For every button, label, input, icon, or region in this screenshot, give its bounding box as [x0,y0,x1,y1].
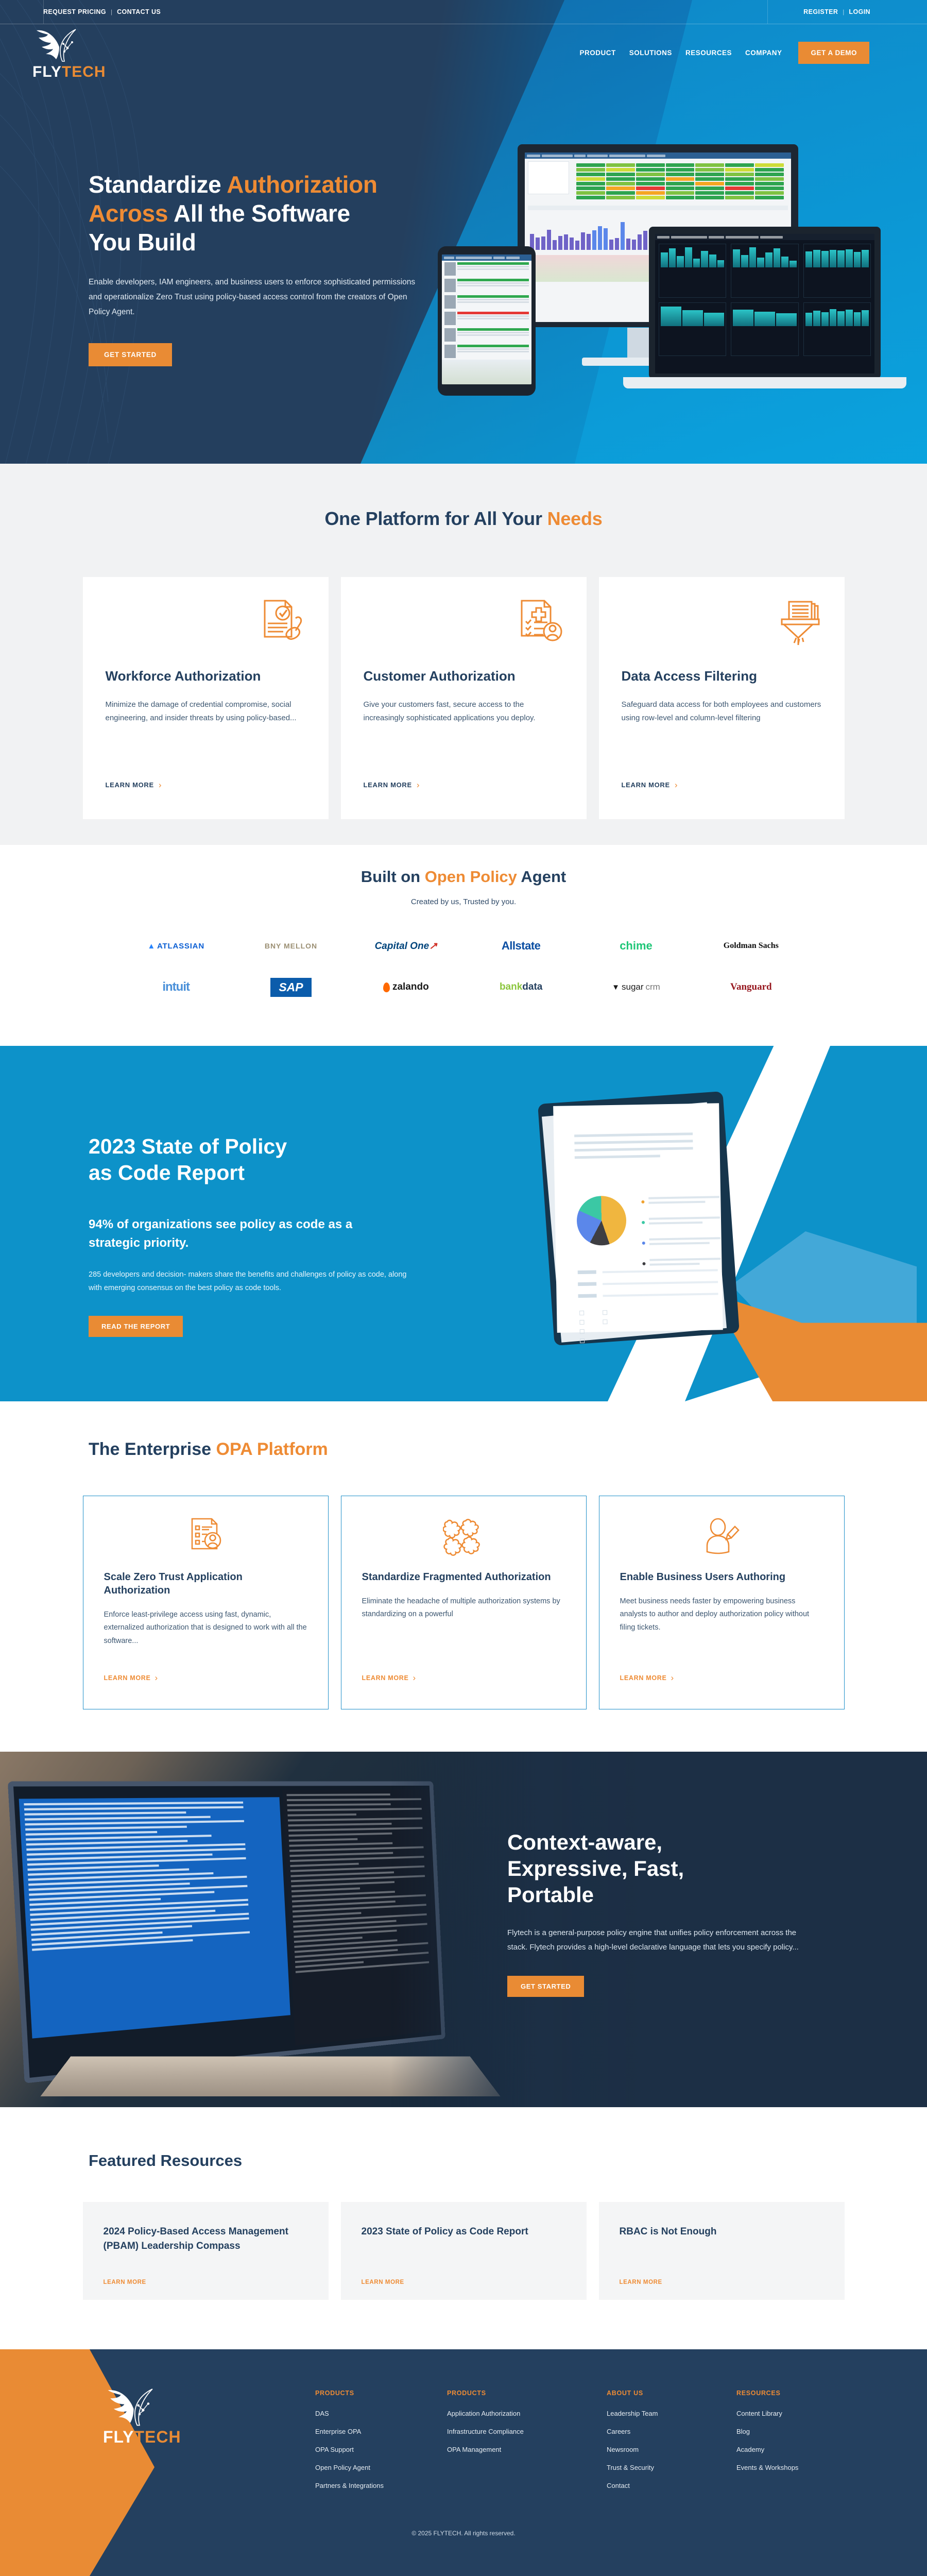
footer-copyright: © 2025 FLYTECH. All rights reserved. [0,2530,927,2537]
hero-title-part2: All the Software [168,200,350,227]
laptop-mockup [649,227,881,379]
utility-divider-left [43,0,44,24]
context-section: Context-aware,Expressive, Fast,Portable … [0,1752,927,2107]
nav-item-company[interactable]: COMPANY [745,49,782,57]
get-a-demo-button[interactable]: GET A DEMO [798,42,869,64]
resource-card-learn-more[interactable]: LEARN MORE [620,2279,662,2285]
utility-bar: REQUEST PRICING | CONTACT US REGISTER | … [0,0,927,24]
report-title-line2: as Code Report [89,1161,245,1184]
chevron-right-icon: › [155,1673,158,1682]
footer-link-open-policy-agent[interactable]: Open Policy Agent [315,2464,447,2471]
opa-heading-post: Agent [517,868,566,886]
read-the-report-button[interactable]: READ THE Report [89,1316,183,1337]
report-clipboard-illustration [538,1091,740,1346]
platform-card-data-access[interactable]: Data Access Filtering Safeguard data acc… [599,577,845,819]
platform-card-workforce[interactable]: Workforce Authorization Minimize the dam… [83,577,329,819]
context-body: Flytech is a general-purpose policy engi… [507,1926,801,1955]
opa-heading-pre: Built on [361,868,425,886]
logo-chime: chime [620,935,653,957]
platform-heading-main: One Platform for All Your [324,508,547,529]
resource-card-title: 2024 Policy-Based Access Management (PBA… [104,2225,308,2253]
report-title: 2023 State of Policyas Code Report [89,1133,449,1187]
footer-link-das[interactable]: DAS [315,2410,447,2417]
resource-card-learn-more[interactable]: LEARN MORE [362,2279,404,2285]
laptop-base [623,377,906,388]
footer-column-products-2: PRODUCTS Application Authorization Infra… [447,2389,607,2500]
footer-link-blog[interactable]: Blog [736,2428,868,2435]
learn-more-label: LEARN MORE [620,1674,667,1682]
header-logo[interactable]: FLYTECH [32,25,106,80]
footer-logo-tech: TECH [134,2428,181,2446]
logo-goldman-sachs: Goldman Sachs [724,935,779,957]
wing-leaf-logo-icon [103,2384,160,2428]
resources-section: Featured Resources 2024 Policy-Based Acc… [0,2107,927,2349]
enterprise-card-body: Meet business needs faster by empowering… [620,1595,823,1634]
nav-item-product[interactable]: PRODUCT [579,49,615,57]
learn-more-label: LEARN MORE [362,1674,409,1682]
person-pencil-icon [701,1516,742,1557]
login-link[interactable]: LOGIN [849,8,870,15]
logo-wordmark: FLYTECH [32,64,106,80]
learn-more-label: LEARN MORE [364,781,412,789]
footer-link-careers[interactable]: Careers [607,2428,736,2435]
footer-column-products-1: PRODUCTS DAS Enterprise OPA OPA Support … [315,2389,447,2500]
footer-link-infrastructure-compliance[interactable]: Infrastructure Compliance [447,2428,607,2435]
platform-card-title: Data Access Filtering [622,668,822,685]
clipboard-checkboxes [579,1310,608,1348]
hero-title: Standardize AuthorizationAcross All the … [89,170,449,257]
report-body: 285 developers and decision- makers shar… [89,1268,408,1296]
footer-link-content-library[interactable]: Content Library [736,2410,868,2417]
footer-column-heading: RESOURCES [736,2389,868,2397]
learn-more-label: LEARN MORE [622,781,670,789]
context-title-line1: Context-aware, [507,1830,662,1854]
logo-sugarcrm: ▼sugarcrm [612,976,660,998]
page-footer: FLYTECH PRODUCTS DAS Enterprise OPA OPA … [0,2349,927,2576]
enterprise-card-business-users[interactable]: Enable Business Users Authoring Meet bus… [599,1496,845,1709]
platform-heading-accent: Needs [547,508,603,529]
footer-logo[interactable]: FLYTECH [103,2384,181,2445]
clipboard-pie-chart [576,1195,627,1246]
footer-link-application-authorization[interactable]: Application Authorization [447,2410,607,2417]
request-pricing-link[interactable]: REQUEST PRICING [43,8,106,15]
terminal-window [19,1797,290,2038]
utility-divider-right [767,0,768,24]
hero-copy: Standardize AuthorizationAcross All the … [89,170,449,366]
logo-zalando: zalando [383,976,429,998]
platform-card-learn-more[interactable]: LEARN MORE › [364,781,420,789]
enterprise-card-learn-more[interactable]: LEARN MORE › [362,1673,416,1682]
clipboard-fields [578,1268,718,1306]
resource-card-learn-more[interactable]: LEARN MORE [104,2279,146,2285]
context-title-line3: Portable [507,1883,594,1907]
footer-columns: PRODUCTS DAS Enterprise OPA OPA Support … [315,2389,868,2500]
tablet-screen [442,255,531,384]
platform-card-title: Customer Authorization [364,668,564,685]
nav-links: PRODUCT SOLUTIONS RESOURCES COMPANY GET … [579,42,869,64]
enterprise-card-title: Enable Business Users Authoring [620,1570,823,1584]
resources-cards: 2024 Policy-Based Access Management (PBA… [0,2202,927,2300]
logo-sap: SAP [270,976,311,998]
footer-column-resources: RESOURCES Content Library Blog Academy E… [736,2389,868,2500]
nav-item-resources[interactable]: RESOURCES [685,49,732,57]
resource-card[interactable]: RBAC is Not Enough LEARN MORE [599,2202,845,2300]
wing-leaf-logo-icon [32,25,82,63]
hero-get-started-button[interactable]: GET STARTED [89,343,172,366]
resource-card-title: 2023 State of Policy as Code Report [362,2225,566,2239]
utility-separator: | [111,8,112,15]
footer-logo-wordmark: FLYTECH [103,2429,181,2445]
tablet-app-toolbar [442,255,531,261]
learn-more-label: LEARN MORE [106,781,154,789]
monitor-heatmap-grid [572,161,788,201]
enterprise-card-learn-more[interactable]: LEARN MORE › [620,1673,674,1682]
platform-card-learn-more[interactable]: LEARN MORE › [622,781,678,789]
chevron-right-icon: › [671,1673,674,1682]
hero-section: REQUEST PRICING | CONTACT US REGISTER | … [0,0,927,464]
logo-atlassian: ▲ATLASSIAN [147,935,204,957]
funnel-documents-icon [774,597,823,646]
footer-column-heading: ABOUT US [607,2389,736,2397]
laptop-screen [655,234,874,374]
enterprise-card-zero-trust[interactable]: Scale Zero Trust Application Authorizati… [83,1496,329,1709]
footer-link-trust-security[interactable]: Trust & Security [607,2464,736,2471]
main-navigation: FLYTECH PRODUCT SOLUTIONS RESOURCES COMP… [0,24,927,81]
footer-link-enterprise-opa[interactable]: Enterprise OPA [315,2428,447,2435]
hero-title-part1: Standardize [89,171,227,198]
report-stat: 94% of organizations see policy as code … [89,1215,403,1252]
document-checklist-user-icon [516,597,565,646]
opa-heading: Built on Open Policy Agent [0,845,927,886]
footer-link-events-workshops[interactable]: Events & Workshops [736,2464,868,2471]
hero-device-mockups [433,139,896,412]
platform-card-body: Safeguard data access for both employees… [622,698,822,725]
logo-intuit: intuit [162,976,190,998]
register-link[interactable]: REGISTER [803,8,838,15]
logo-bankdata: bankdata [500,976,542,998]
context-title-line2: Expressive, Fast, [507,1856,684,1880]
chevron-right-icon: › [159,781,162,789]
laptop-app-toolbar [655,234,874,240]
logo-bny-mellon: BNY MELLON [265,935,317,957]
chevron-right-icon: › [675,781,678,789]
platform-card-title: Workforce Authorization [106,668,306,685]
footer-link-opa-management[interactable]: OPA Management [447,2446,607,2453]
enterprise-section: The Enterprise OPA Platform Scale Zero T… [0,1401,927,1752]
contact-us-link[interactable]: CONTACT US [117,8,161,15]
context-title: Context-aware,Expressive, Fast,Portable [507,1829,827,1908]
logo-capital-one: Capital One↗ [375,935,438,957]
logo-tech: TECH [62,63,106,80]
platform-cards: Workforce Authorization Minimize the dam… [0,577,927,819]
enterprise-card-body: Enforce least-privilege access using fas… [104,1608,307,1648]
context-copy: Context-aware,Expressive, Fast,Portable … [507,1829,827,1997]
platform-heading: One Platform for All Your Needs [0,464,927,530]
resource-card[interactable]: 2023 State of Policy as Code Report LEAR… [341,2202,587,2300]
monitor-app-toolbar [525,152,791,159]
opa-heading-accent: Open Policy [425,868,517,886]
clipboard-header-lines [574,1132,693,1163]
opa-section: Built on Open Policy Agent Created by us… [0,845,927,1046]
clipboard-paper-front [553,1103,723,1333]
hero-title-part3: You Build [89,229,196,256]
logo-fly: FLY [32,63,62,80]
learn-more-label: LEARN MORE [104,1674,151,1682]
platform-section: One Platform for All Your Needs Workforc… [0,464,927,845]
enterprise-heading: The Enterprise OPA Platform [89,1439,927,1460]
footer-link-opa-support[interactable]: OPA Support [315,2446,447,2453]
logo-vanguard: Vanguard [730,976,772,998]
platform-card-customer[interactable]: Customer Authorization Give your custome… [341,577,587,819]
enterprise-card-body: Eliminate the headache of multiple autho… [362,1595,565,1621]
footer-logo-fly: FLY [103,2428,134,2446]
report-copy: 2023 State of Policyas Code Report 94% o… [89,1133,449,1337]
tablet-mockup [438,246,536,396]
clipboard-legend-list [641,1196,721,1280]
document-stamp-icon [257,597,307,646]
puzzle-pieces-icon [443,1516,484,1557]
platform-card-body: Give your customers fast, secure access … [364,698,564,725]
footer-link-contact[interactable]: Contact [607,2482,736,2489]
resources-heading: Featured Resources [89,2151,927,2170]
resource-card[interactable]: 2024 Policy-Based Access Management (PBA… [83,2202,329,2300]
opa-subtitle: Created by us, Trusted by you. [0,897,927,906]
footer-link-partners-integrations[interactable]: Partners & Integrations [315,2482,447,2489]
checklist-person-icon [185,1516,226,1557]
footer-link-leadership-team[interactable]: Leadership Team [607,2410,736,2417]
customer-logos: ▲ATLASSIAN BNY MELLON Capital One↗ Allst… [0,935,927,998]
enterprise-card-learn-more[interactable]: LEARN MORE › [104,1673,158,1682]
logo-allstate: Allstate [502,935,540,957]
footer-column-heading: PRODUCTS [447,2389,607,2397]
landing-page: REQUEST PRICING | CONTACT US REGISTER | … [0,0,927,2576]
enterprise-cards: Scale Zero Trust Application Authorizati… [0,1496,927,1709]
context-laptop-image [8,1782,445,2083]
resource-card-title: RBAC is Not Enough [620,2225,824,2239]
enterprise-card-title: Scale Zero Trust Application Authorizati… [104,1570,307,1597]
footer-link-newsroom[interactable]: Newsroom [607,2446,736,2453]
platform-card-body: Minimize the damage of credential compro… [106,698,306,725]
footer-link-academy[interactable]: Academy [736,2446,868,2453]
platform-card-learn-more[interactable]: LEARN MORE › [106,781,162,789]
enterprise-heading-main: The Enterprise [89,1439,216,1459]
report-title-line1: 2023 State of Policy [89,1134,287,1158]
context-get-started-button[interactable]: GET STARTED [507,1976,584,1997]
footer-column-heading: PRODUCTS [315,2389,447,2397]
utility-separator-right: | [843,8,844,15]
report-section: 2023 State of Policyas Code Report 94% o… [0,1046,927,1401]
hero-title-accent1: Authorization [227,171,377,198]
hero-title-accent2: Across [89,200,168,227]
enterprise-card-standardize[interactable]: Standardize Fragmented Authorization Eli… [341,1496,587,1709]
chevron-right-icon: › [417,781,420,789]
nav-item-solutions[interactable]: SOLUTIONS [629,49,672,57]
chevron-right-icon: › [413,1673,416,1682]
hero-subtitle: Enable developers, IAM engineers, and bu… [89,275,418,319]
footer-orange-wedge [0,2349,154,2576]
enterprise-card-title: Standardize Fragmented Authorization [362,1570,565,1584]
enterprise-heading-accent: OPA Platform [216,1439,328,1459]
footer-column-about-us: ABOUT US Leadership Team Careers Newsroo… [607,2389,736,2500]
